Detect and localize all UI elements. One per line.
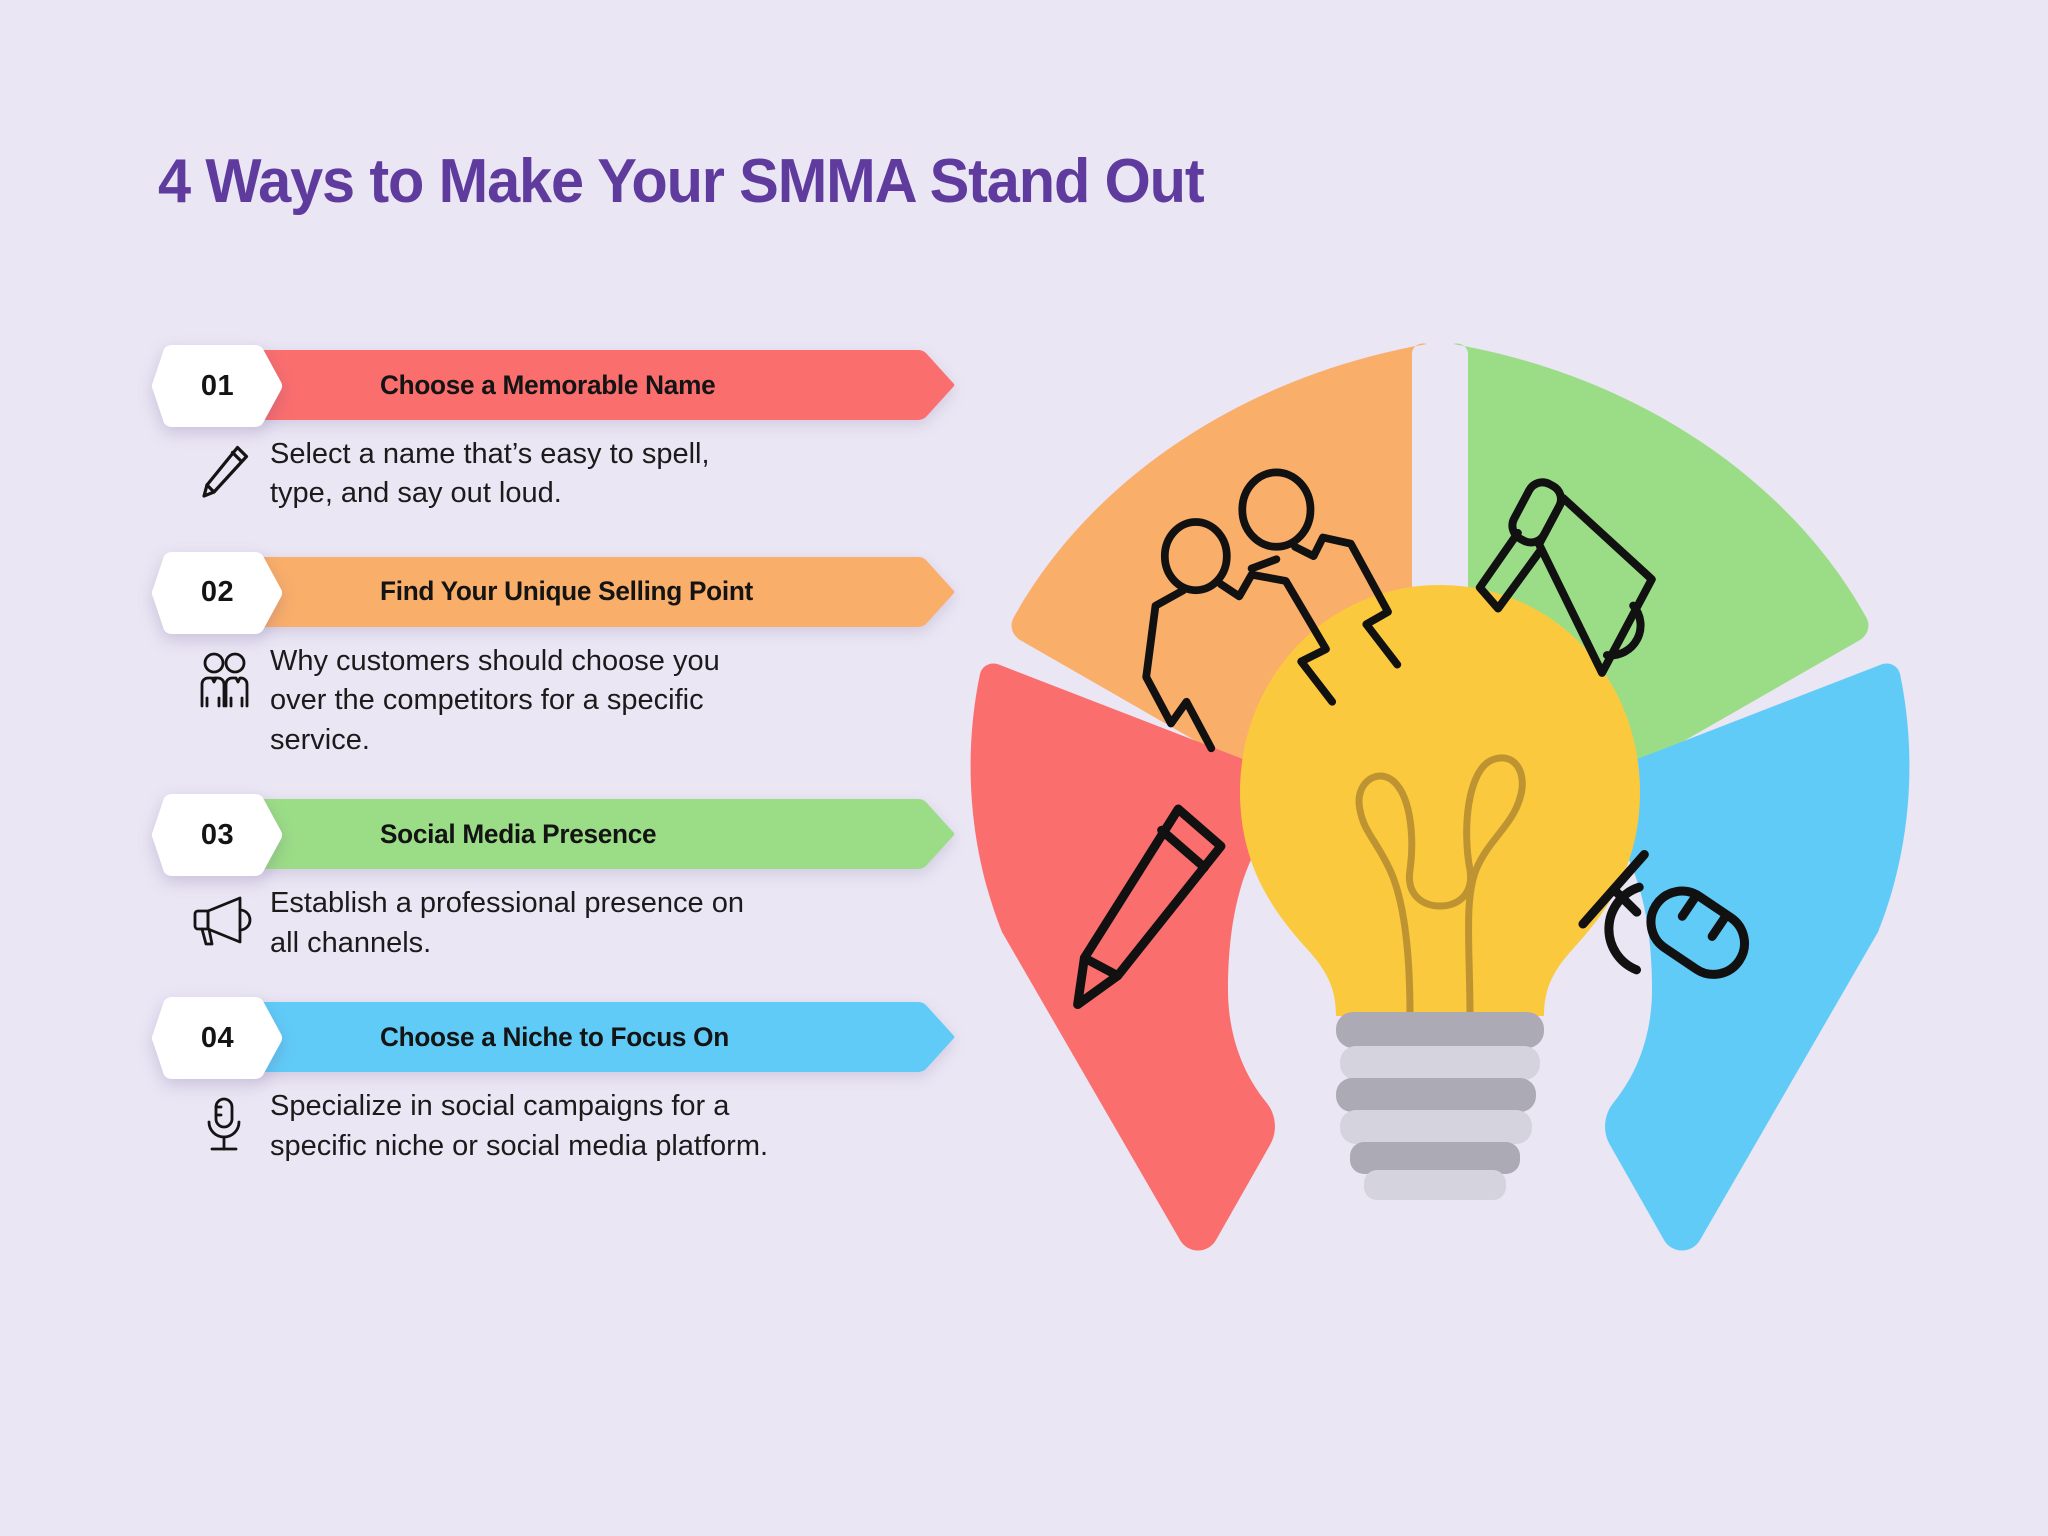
steps-list: Choose a Memorable Name 01 <box>150 345 870 1176</box>
step-item: Choose a Memorable Name 01 <box>150 345 870 514</box>
base-tip <box>1364 1170 1506 1200</box>
step-description-row: Why customers should choose you over the… <box>150 642 870 760</box>
step-description: Select a name that’s easy to spell, type… <box>270 435 770 514</box>
step-description: Specialize in social campaigns for a spe… <box>270 1087 770 1166</box>
step-banner-row: Social Media Presence 03 <box>150 794 870 874</box>
infographic-canvas: 4 Ways to Make Your SMMA Stand Out Choos… <box>0 0 2048 1536</box>
lightbulb-wheel-diagram <box>940 340 1940 1270</box>
step-heading: Choose a Niche to Focus On <box>380 997 729 1077</box>
step-banner-row: Choose a Niche to Focus On 04 <box>150 997 870 1077</box>
step-item: Social Media Presence 03 <box>150 794 870 963</box>
step-heading: Social Media Presence <box>380 794 656 874</box>
step-item: Choose a Niche to Focus On 04 <box>150 997 870 1166</box>
step-description-row: Select a name that’s easy to spell, type… <box>150 435 870 514</box>
microphone-icon <box>178 1087 270 1166</box>
step-number: 01 <box>150 345 285 427</box>
base-band-4 <box>1340 1110 1532 1144</box>
lightbulb <box>1240 585 1640 1200</box>
pencil-icon <box>178 435 270 514</box>
base-band-5 <box>1350 1142 1520 1174</box>
step-description: Why customers should choose you over the… <box>270 642 770 760</box>
step-item: Find Your Unique Selling Point 02 <box>150 552 870 760</box>
step-number: 02 <box>150 552 285 634</box>
step-heading: Choose a Memorable Name <box>380 345 715 425</box>
people-icon <box>178 642 270 760</box>
step-banner-row: Find Your Unique Selling Point 02 <box>150 552 870 632</box>
step-description: Establish a professional presence on all… <box>270 884 770 963</box>
step-heading: Find Your Unique Selling Point <box>380 552 753 632</box>
step-number: 03 <box>150 794 285 876</box>
bulb-base <box>1336 1012 1544 1200</box>
base-band-3 <box>1336 1078 1536 1112</box>
base-band-2 <box>1340 1046 1540 1080</box>
step-number: 04 <box>150 997 285 1079</box>
bulb-glass <box>1240 585 1640 1016</box>
megaphone-icon <box>178 884 270 963</box>
base-band-1 <box>1336 1012 1544 1048</box>
step-description-row: Establish a professional presence on all… <box>150 884 870 963</box>
page-title: 4 Ways to Make Your SMMA Stand Out <box>158 146 1204 217</box>
step-description-row: Specialize in social campaigns for a spe… <box>150 1087 870 1166</box>
step-banner-row: Choose a Memorable Name 01 <box>150 345 870 425</box>
